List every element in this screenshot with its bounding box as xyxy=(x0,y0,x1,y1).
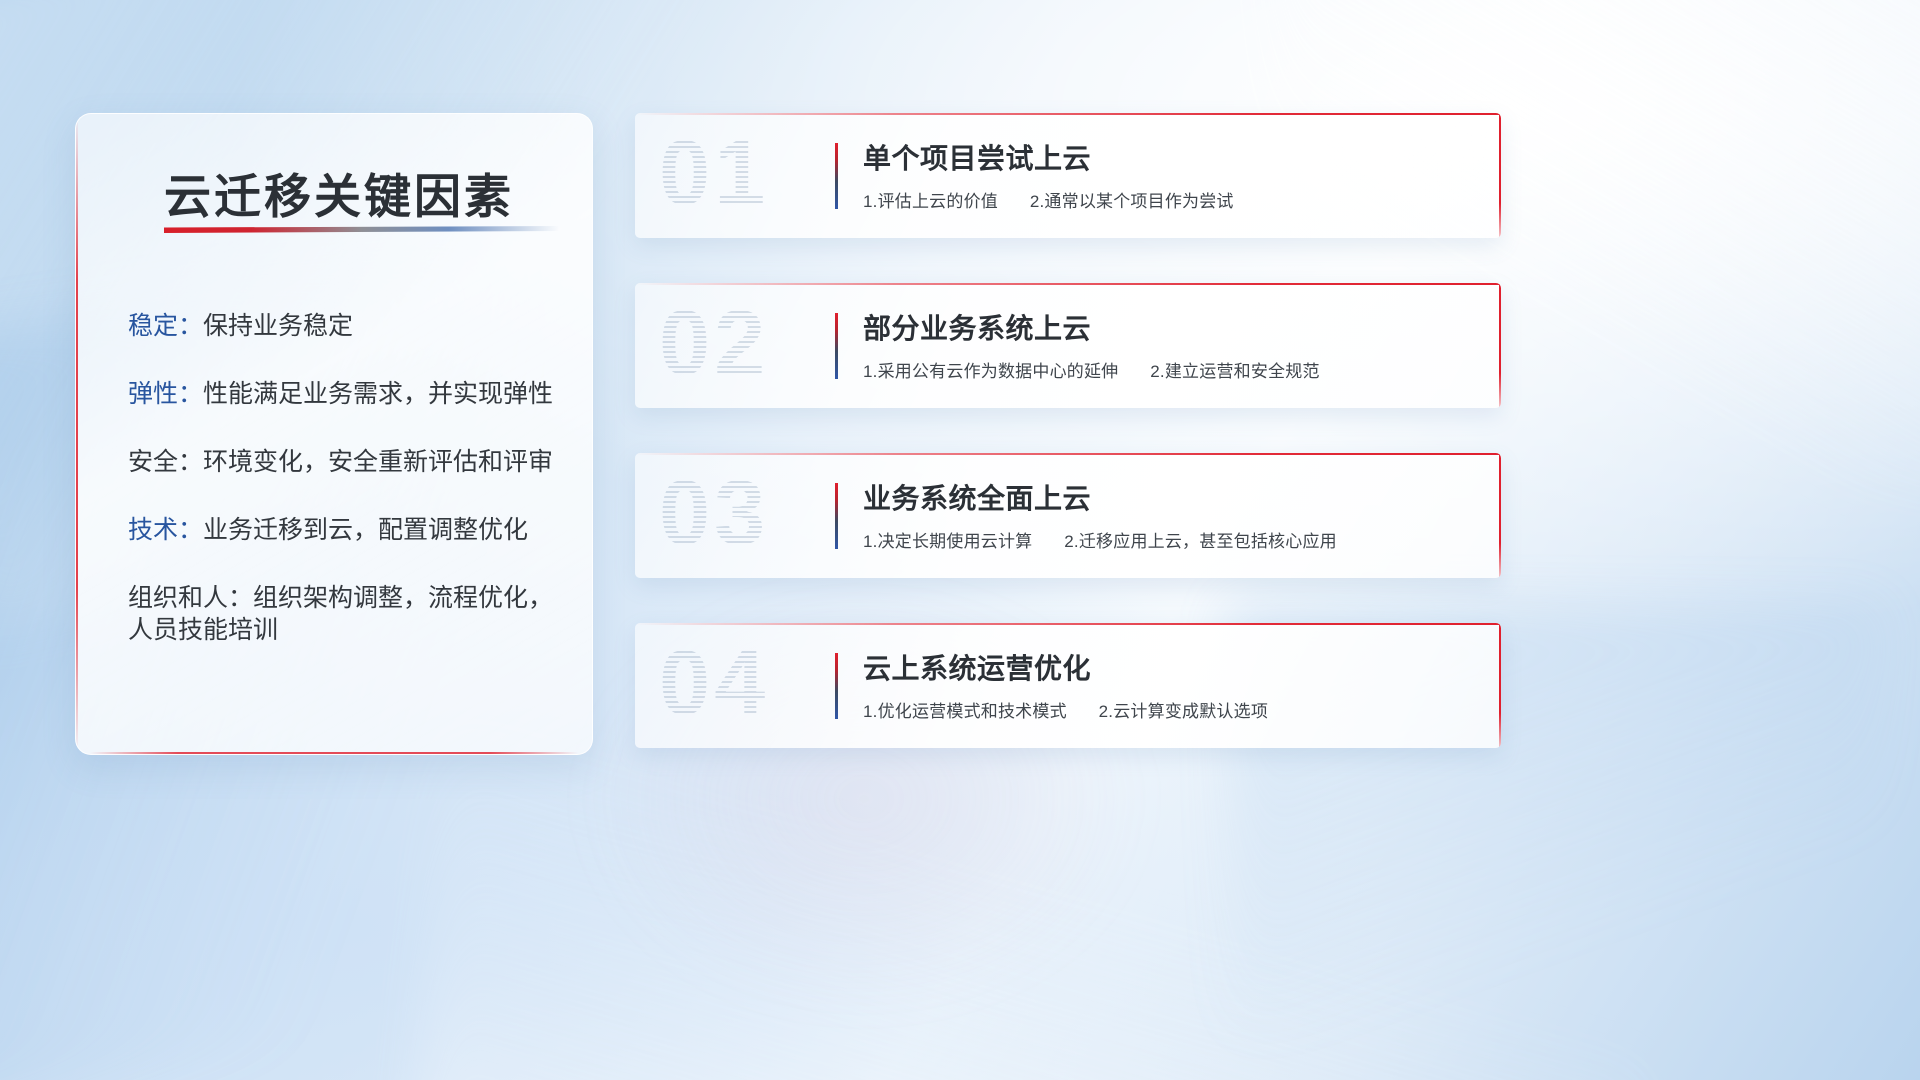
step-body: 业务系统全面上云 1.决定长期使用云计算 2.迁移应用上云，甚至包括核心应用 xyxy=(863,477,1477,552)
factor-label: 组织和人： xyxy=(128,584,253,612)
key-factors-panel: 云迁移关键因素 稳定：保持业务稳定 弹性：性能满足业务需求，并实现弹性 安全：环… xyxy=(75,113,593,755)
step-card[interactable]: 02 部分业务系统上云 1.采用公有云作为数据中心的延伸 2.建立运营和安全规范 xyxy=(635,283,1501,408)
factor-text: 性能满足业务需求，并实现弹性 xyxy=(203,380,553,408)
step-point-1: 1.评估上云的价值 xyxy=(863,192,998,211)
step-point-1: 1.采用公有云作为数据中心的延伸 xyxy=(863,362,1118,381)
step-description: 1.评估上云的价值 2.通常以某个项目作为尝试 xyxy=(863,187,1477,212)
step-number: 03 xyxy=(659,461,769,566)
step-accent-bar xyxy=(835,653,838,719)
factor-item: 弹性：性能满足业务需求，并实现弹性 xyxy=(128,378,568,410)
factor-item: 技术：业务迁移到云，配置调整优化 xyxy=(128,514,568,546)
step-body: 部分业务系统上云 1.采用公有云作为数据中心的延伸 2.建立运营和安全规范 xyxy=(863,307,1477,382)
step-point-2: 2.云计算变成默认选项 xyxy=(1099,702,1268,721)
step-point-2: 2.迁移应用上云，甚至包括核心应用 xyxy=(1064,532,1337,551)
step-point-1: 1.决定长期使用云计算 xyxy=(863,532,1032,551)
step-title: 云上系统运营优化 xyxy=(863,647,1477,687)
panel-title: 云迁移关键因素 xyxy=(164,158,514,227)
factor-text: 保持业务稳定 xyxy=(203,312,353,340)
step-description: 1.决定长期使用云计算 2.迁移应用上云，甚至包括核心应用 xyxy=(863,527,1477,552)
step-card[interactable]: 04 云上系统运营优化 1.优化运营模式和技术模式 2.云计算变成默认选项 xyxy=(635,623,1501,748)
step-point-2: 2.建立运营和安全规范 xyxy=(1150,362,1319,381)
factor-item: 安全：环境变化，安全重新评估和评审 xyxy=(128,446,568,478)
title-underline-rule xyxy=(164,226,559,233)
factor-list: 稳定：保持业务稳定 弹性：性能满足业务需求，并实现弹性 安全：环境变化，安全重新… xyxy=(128,310,568,682)
step-description: 1.优化运营模式和技术模式 2.云计算变成默认选项 xyxy=(863,697,1477,722)
factor-label: 技术： xyxy=(128,516,203,544)
factor-text: 业务迁移到云，配置调整优化 xyxy=(203,516,528,544)
factor-item: 稳定：保持业务稳定 xyxy=(128,310,568,342)
step-accent-bar xyxy=(835,143,838,209)
step-number: 02 xyxy=(659,291,769,396)
step-title: 业务系统全面上云 xyxy=(863,477,1477,517)
factor-label: 安全： xyxy=(128,448,203,476)
factor-text: 环境变化，安全重新评估和评审 xyxy=(203,448,553,476)
step-accent-bar xyxy=(835,483,838,549)
step-body: 云上系统运营优化 1.优化运营模式和技术模式 2.云计算变成默认选项 xyxy=(863,647,1477,722)
step-title: 单个项目尝试上云 xyxy=(863,137,1477,177)
step-title: 部分业务系统上云 xyxy=(863,307,1477,347)
step-card[interactable]: 01 单个项目尝试上云 1.评估上云的价值 2.通常以某个项目作为尝试 xyxy=(635,113,1501,238)
step-point-1: 1.优化运营模式和技术模式 xyxy=(863,702,1067,721)
step-number: 01 xyxy=(659,121,769,226)
factor-label: 稳定： xyxy=(128,312,203,340)
factor-item: 组织和人：组织架构调整，流程优化，人员技能培训 xyxy=(128,582,568,646)
step-number: 04 xyxy=(659,631,769,736)
step-card[interactable]: 03 业务系统全面上云 1.决定长期使用云计算 2.迁移应用上云，甚至包括核心应… xyxy=(635,453,1501,578)
migration-steps-list: 01 单个项目尝试上云 1.评估上云的价值 2.通常以某个项目作为尝试 02 部… xyxy=(635,113,1501,793)
step-point-2: 2.通常以某个项目作为尝试 xyxy=(1030,192,1234,211)
step-description: 1.采用公有云作为数据中心的延伸 2.建立运营和安全规范 xyxy=(863,357,1477,382)
slide-stage: 云迁移关键因素 稳定：保持业务稳定 弹性：性能满足业务需求，并实现弹性 安全：环… xyxy=(0,0,1920,1080)
factor-label: 弹性： xyxy=(128,380,203,408)
step-accent-bar xyxy=(835,313,838,379)
step-body: 单个项目尝试上云 1.评估上云的价值 2.通常以某个项目作为尝试 xyxy=(863,137,1477,212)
